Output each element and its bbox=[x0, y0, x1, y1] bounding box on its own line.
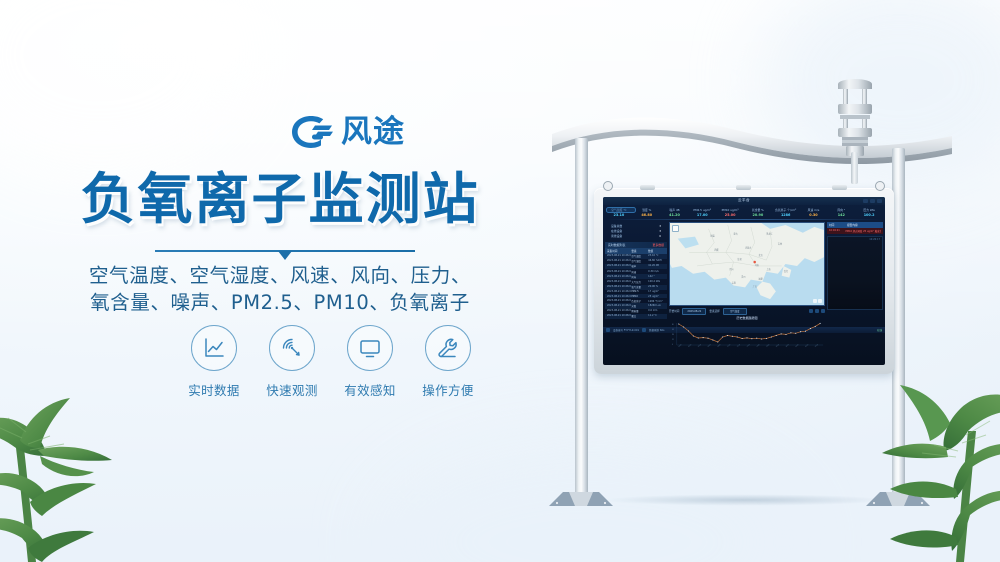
element-select[interactable]: 空气温度 bbox=[723, 308, 747, 315]
cell-element: 风向 bbox=[631, 275, 648, 279]
kpi-card: 风速 m/s 0.30 bbox=[800, 208, 828, 218]
feature-label: 快速观测 bbox=[259, 380, 325, 399]
kpi-value: 20.90 bbox=[744, 213, 772, 218]
kpi-strip: 空气温度 ℃ 23.10 湿度 % 46.80 噪声 dB 41.20 PM2.… bbox=[603, 208, 885, 218]
cell-element: PM2.5 bbox=[631, 290, 648, 293]
footer-status: 在线 bbox=[877, 328, 882, 332]
cell-time: 2023-08-21 10:26:00 bbox=[607, 270, 631, 274]
cell-element: 露点 bbox=[631, 314, 648, 318]
svg-text:蒙古: 蒙古 bbox=[734, 231, 738, 235]
svg-text:黑龙江: 黑龙江 bbox=[766, 231, 773, 235]
cell-value: 41.20 dB bbox=[648, 264, 665, 268]
svg-text:10:00: 10:00 bbox=[727, 343, 731, 347]
kpi-value: 41.20 bbox=[661, 213, 689, 218]
camera-timestamp: 10:26:17 bbox=[869, 238, 880, 241]
alarm-time: 10:04:21 bbox=[829, 229, 845, 233]
subtitle: 空气温度、空气湿度、风速、风向、压力、 氧含量、噪声、PM2.5、PM10、负氧… bbox=[0, 262, 560, 316]
feature-item-easy-operation: 操作方便 bbox=[415, 325, 481, 399]
svg-text:30: 30 bbox=[672, 323, 674, 325]
alarm-row[interactable]: 10:04:21 PM10 超过阈值 25 ug/m³ 触发告警 bbox=[827, 228, 883, 234]
cell-time: 2023-08-21 10:26:00 bbox=[607, 259, 631, 263]
display-panel: 云平台 空气温度 ℃ 23.10 湿度 % 46.80 bbox=[594, 188, 894, 374]
dashboard-header-actions[interactable] bbox=[863, 199, 882, 203]
cell-element: 负氧离子 bbox=[631, 299, 648, 303]
svg-text:14:00: 14:00 bbox=[746, 343, 750, 347]
toolbar-button-icon[interactable] bbox=[821, 309, 825, 313]
header-action-icon[interactable] bbox=[863, 199, 868, 203]
trend-chart: 历史数据趋势图 bbox=[669, 316, 825, 351]
title-divider bbox=[155, 246, 415, 258]
table-row[interactable]: 2023-08-21 10:26:00 空气湿度 46.80 %RH bbox=[605, 259, 667, 264]
svg-text:04:00: 04:00 bbox=[698, 343, 702, 347]
svg-text:甘肃: 甘肃 bbox=[737, 257, 741, 261]
kpi-value: 17.00 bbox=[688, 213, 716, 218]
sensor-mast bbox=[851, 152, 858, 184]
kpi-value: 23.10 bbox=[605, 213, 633, 218]
svg-text:04:00: 04:00 bbox=[815, 343, 819, 347]
radar-signal-icon bbox=[280, 336, 304, 360]
right-panel: 时间 报警内容 10:04:21 PM10 超过阈值 25 ug/m³ 触发告警… bbox=[827, 222, 883, 326]
table-row[interactable]: 2023-08-21 10:26:00 降雨量 0.0 mm bbox=[605, 309, 667, 314]
map-zoom-in-icon[interactable] bbox=[813, 299, 817, 303]
svg-text:0: 0 bbox=[672, 343, 673, 345]
cell-time: 2023-08-21 10:26:00 bbox=[607, 309, 631, 313]
device-stat-row: 离线设备 0 bbox=[611, 234, 661, 239]
table-row[interactable]: 2023-08-21 10:26:00 PM2.5 17 ug/m³ bbox=[605, 290, 667, 294]
base-plate-left bbox=[549, 490, 613, 507]
cell-time: 2023-08-21 10:26:00 bbox=[607, 295, 631, 298]
cell-time: 2023-08-21 10:26:00 bbox=[607, 280, 631, 284]
map-zoom-controls[interactable] bbox=[813, 299, 823, 303]
svg-text:02:00: 02:00 bbox=[805, 343, 809, 347]
kpi-card: PM10 ug/m³ 25.00 bbox=[716, 208, 744, 218]
svg-text:02:00: 02:00 bbox=[688, 343, 692, 347]
svg-text:20:00: 20:00 bbox=[776, 343, 780, 347]
table-row[interactable]: 2023-08-21 10:26:00 露点 11.2 ℃ bbox=[605, 314, 667, 319]
kpi-value: 1286 bbox=[772, 213, 800, 218]
svg-text:12:00: 12:00 bbox=[737, 343, 741, 347]
svg-text:00:00: 00:00 bbox=[678, 343, 682, 347]
header-action-icon[interactable] bbox=[870, 199, 875, 203]
brand-name: 风途 bbox=[341, 117, 405, 148]
page-title: 负氧离子监测站 bbox=[0, 154, 560, 234]
alarm-table-header: 时间 报警内容 bbox=[827, 222, 883, 228]
center-panel: 新疆 蒙古 黑龙江 西藏 内蒙古 吉林 甘肃 北京 河南 四川 bbox=[669, 222, 825, 326]
feature-icon-circle bbox=[269, 325, 315, 371]
dashboard-screen[interactable]: 云平台 空气温度 ℃ 23.10 湿度 % 46.80 bbox=[603, 197, 885, 365]
cell-time: 2023-08-21 10:26:00 bbox=[607, 299, 631, 303]
svg-text:云南: 云南 bbox=[732, 280, 736, 284]
panel-hook-left bbox=[603, 181, 613, 191]
cell-element: 噪声 bbox=[631, 264, 648, 268]
feature-label: 操作方便 bbox=[415, 380, 481, 399]
cell-value: 142 ° bbox=[648, 275, 665, 279]
column-header: 要素 bbox=[631, 249, 648, 253]
brand-logo: 风途 bbox=[288, 112, 405, 152]
kpi-card: 负氧离子 个/cm³ 1286 bbox=[772, 208, 800, 218]
camera-feed[interactable]: 10:26:17 bbox=[827, 236, 883, 310]
table-more-link[interactable]: 更多数据 bbox=[652, 243, 664, 247]
banana-leaf-left bbox=[0, 352, 154, 562]
chart-series-line bbox=[679, 323, 820, 342]
date-picker[interactable]: 2023-08-21 bbox=[682, 308, 706, 315]
dashboard-body: 设备总数 3 在线设备 3 离线设备 0 bbox=[603, 222, 885, 326]
kpi-value: 25.00 bbox=[716, 213, 744, 218]
cell-value: 1286 个/cm³ bbox=[648, 299, 665, 303]
column-header: 数值 bbox=[648, 249, 665, 253]
svg-text:12: 12 bbox=[672, 338, 674, 340]
subtitle-line-2: 氧含量、噪声、PM2.5、PM10、负氧离子 bbox=[0, 289, 560, 316]
svg-text:06:00: 06:00 bbox=[707, 343, 711, 347]
cell-time: 2023-08-21 10:26:00 bbox=[607, 304, 631, 308]
kpi-card: 氧含量 % 20.90 bbox=[744, 208, 772, 218]
table-title: 实时数据列表 bbox=[608, 243, 625, 247]
cell-value: 17 ug/m³ bbox=[648, 290, 665, 293]
toolbar-button-icon[interactable] bbox=[809, 309, 813, 313]
filter-label-date: 开始时间 bbox=[669, 309, 679, 313]
svg-text:16:00: 16:00 bbox=[756, 343, 760, 347]
china-map[interactable]: 新疆 蒙古 黑龙江 西藏 内蒙古 吉林 甘肃 北京 河南 四川 bbox=[669, 222, 825, 306]
stat-label: 离线设备 bbox=[611, 234, 622, 239]
cell-element: PM10 bbox=[631, 295, 648, 298]
divider-caret-icon bbox=[278, 251, 292, 260]
map-zoom-out-icon[interactable] bbox=[818, 299, 822, 303]
map-layer-button[interactable] bbox=[672, 225, 679, 232]
line-chart-icon bbox=[202, 336, 226, 360]
cell-element: 光照 bbox=[631, 304, 648, 308]
feature-label: 实时数据 bbox=[181, 380, 247, 399]
feature-item-effective-sensing: 有效感知 bbox=[337, 325, 403, 399]
kpi-card: 风向 ° 142 bbox=[827, 208, 855, 218]
kpi-value: 46.80 bbox=[633, 213, 661, 218]
panel-clip bbox=[640, 185, 655, 190]
stat-value: 0 bbox=[659, 234, 661, 239]
wrench-icon bbox=[436, 336, 460, 360]
svg-text:08:00: 08:00 bbox=[717, 343, 721, 347]
cell-value: 18260 Lux bbox=[648, 304, 665, 308]
table-row[interactable]: 2023-08-21 10:26:00 风速 0.30 m/s bbox=[605, 269, 667, 274]
kpi-value: 0.30 bbox=[800, 213, 828, 218]
cell-value: 0.30 m/s bbox=[648, 270, 665, 274]
alarm-column-time: 时间 bbox=[829, 223, 847, 227]
poster-stage: 风途 负氧离子监测站 空气温度、空气湿度、风速、风向、压力、 氧含量、噪声、PM… bbox=[0, 0, 1000, 562]
column-header: 采集时间 bbox=[607, 249, 631, 253]
element-value: 空气温度 bbox=[730, 309, 740, 313]
table-row[interactable]: 2023-08-21 10:26:00 大气压力 100.2 kPa bbox=[605, 279, 667, 284]
feature-item-fast-observation: 快速观测 bbox=[259, 325, 325, 399]
date-value: 2023-08-21 bbox=[687, 310, 701, 313]
kpi-card: PM2.5 ug/m³ 17.00 bbox=[688, 208, 716, 218]
feature-item-realtime-data: 实时数据 bbox=[181, 325, 247, 399]
chart-toolbar[interactable] bbox=[809, 309, 825, 313]
svg-text:内蒙古: 内蒙古 bbox=[745, 245, 751, 249]
cell-time: 2023-08-21 10:26:00 bbox=[607, 275, 631, 279]
cell-value: 20.90 % bbox=[648, 285, 665, 289]
header-action-icon[interactable] bbox=[877, 199, 882, 203]
panel-hook-right bbox=[875, 181, 885, 191]
left-panel: 设备总数 3 在线设备 3 离线设备 0 bbox=[605, 222, 667, 326]
cell-value: 11.2 ℃ bbox=[648, 314, 665, 318]
support-post-left bbox=[575, 138, 588, 498]
banana-leaf-right bbox=[860, 347, 1000, 562]
cell-element: 空气温度 bbox=[631, 254, 648, 258]
footer-icon bbox=[606, 328, 610, 332]
svg-text:18:00: 18:00 bbox=[766, 343, 770, 347]
feature-label: 有效感知 bbox=[337, 380, 403, 399]
toolbar-button-icon[interactable] bbox=[815, 309, 819, 313]
chart-canvas: 3024 1812 0 00:00 02:00 04:00 06:00 bbox=[669, 321, 825, 351]
svg-text:22:00: 22:00 bbox=[785, 343, 789, 347]
table-row[interactable]: 2023-08-21 10:26:00 氧气含量 20.90 % bbox=[605, 285, 667, 290]
svg-text:贵州: 贵州 bbox=[741, 274, 745, 278]
table-row[interactable]: 2023-08-21 10:26:00 PM10 25 ug/m³ bbox=[605, 294, 667, 298]
panel-clip bbox=[832, 185, 847, 190]
data-table-body: 2023-08-21 10:26:00 空气温度 23.10 ℃ 2023-08… bbox=[605, 254, 667, 319]
cell-time: 2023-08-21 10:26:00 bbox=[607, 254, 631, 258]
monitor-icon bbox=[358, 336, 382, 360]
table-row[interactable]: 2023-08-21 10:26:00 噪声 41.20 dB bbox=[605, 264, 667, 269]
svg-text:河南: 河南 bbox=[755, 262, 759, 266]
feature-icon-circle bbox=[347, 325, 393, 371]
table-row[interactable]: 2023-08-21 10:26:00 负氧离子 1286 个/cm³ bbox=[605, 298, 667, 303]
ultrasonic-weather-sensor-icon bbox=[828, 74, 882, 160]
dashboard-title: 云平台 bbox=[603, 198, 885, 203]
feature-icon-circle bbox=[425, 325, 471, 371]
feature-icon-circle bbox=[191, 325, 237, 371]
chart-filters: 开始时间 2023-08-21 要素选择 空气温度 bbox=[669, 308, 825, 315]
cell-element: 风速 bbox=[631, 270, 648, 274]
kpi-value: 100.2 bbox=[855, 213, 883, 218]
kpi-card: 湿度 % 46.80 bbox=[633, 208, 661, 218]
kpi-value: 142 bbox=[827, 213, 855, 218]
cell-value: 46.80 %RH bbox=[648, 259, 665, 263]
cell-element: 空气湿度 bbox=[631, 259, 648, 263]
cell-value: 0.0 mm bbox=[648, 309, 665, 313]
feature-list: 实时数据 快速观测 bbox=[181, 325, 481, 399]
svg-text:00:00: 00:00 bbox=[795, 343, 799, 347]
wind-g-logo-icon bbox=[288, 112, 334, 152]
cell-value: 100.2 kPa bbox=[648, 280, 665, 284]
device-stats: 设备总数 3 在线设备 3 离线设备 0 bbox=[605, 222, 667, 242]
cell-time: 2023-08-21 10:26:00 bbox=[607, 285, 631, 289]
cell-time: 2023-08-21 10:26:00 bbox=[607, 314, 631, 318]
footer-icon bbox=[642, 328, 646, 332]
svg-text:北京: 北京 bbox=[759, 253, 763, 257]
cell-time: 2023-08-21 10:26:00 bbox=[607, 290, 631, 293]
cell-element: 氧气含量 bbox=[631, 285, 648, 289]
station-selector[interactable] bbox=[606, 207, 636, 214]
svg-text:24: 24 bbox=[672, 328, 674, 330]
cell-element: 大气压力 bbox=[631, 280, 648, 284]
footer-device-id: 设备编号 FT-FYLZ-001 bbox=[613, 328, 639, 332]
svg-text:18: 18 bbox=[672, 333, 674, 335]
footer-refresh: 数据刷新 60s bbox=[649, 328, 664, 332]
kpi-card: 噪声 dB 41.20 bbox=[661, 208, 689, 218]
svg-text:广东: 广东 bbox=[753, 284, 757, 288]
table-row[interactable]: 2023-08-21 10:26:00 空气温度 23.10 ℃ bbox=[605, 254, 667, 259]
kpi-card: 压力 kPa 100.2 bbox=[855, 208, 883, 218]
kpi-separator bbox=[606, 219, 882, 220]
cell-value: 25 ug/m³ bbox=[648, 295, 665, 298]
panel-clip bbox=[736, 185, 751, 190]
table-row[interactable]: 2023-08-21 10:26:00 风向 142 ° bbox=[605, 274, 667, 279]
subtitle-line-1: 空气温度、空气湿度、风速、风向、压力、 bbox=[0, 262, 560, 289]
filter-label-element: 要素选择 bbox=[709, 309, 719, 313]
cell-value: 23.10 ℃ bbox=[648, 254, 665, 258]
cell-element: 降雨量 bbox=[631, 309, 648, 313]
alarm-content: PM10 超过阈值 25 ug/m³ 触发告警 bbox=[845, 229, 881, 233]
cell-time: 2023-08-21 10:26:00 bbox=[607, 264, 631, 268]
svg-text:四川: 四川 bbox=[730, 267, 734, 270]
table-row[interactable]: 2023-08-21 10:26:00 光照 18260 Lux bbox=[605, 303, 667, 308]
dashboard-header: 云平台 bbox=[603, 197, 885, 205]
alarm-column-content: 报警内容 bbox=[847, 223, 858, 227]
